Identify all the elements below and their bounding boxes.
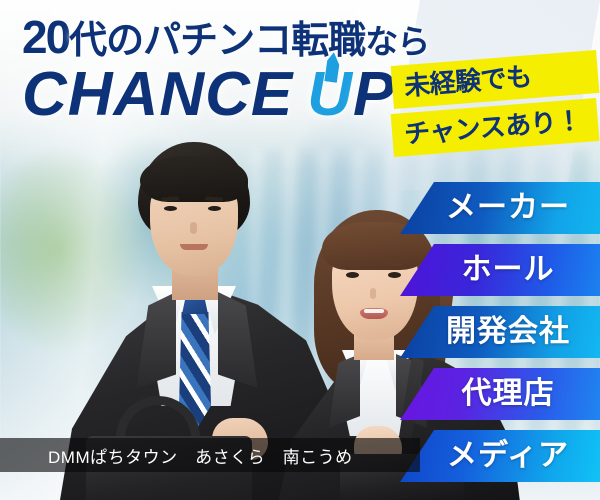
category-label-media: メディア [447, 441, 569, 471]
female-nose [370, 288, 376, 299]
headline-age-number: 20 [22, 11, 69, 63]
badge-chance-available: チャンスあり！ [391, 98, 600, 157]
category-list: メーカー ホール 開発会社 代理店 メディア [400, 182, 600, 482]
category-label-maker: メーカー [446, 193, 570, 223]
category-item-agency[interactable]: 代理店 [400, 368, 600, 420]
male-eye-right [208, 206, 221, 211]
logo-word-up: UP [307, 64, 395, 126]
category-label-agency: 代理店 [462, 379, 555, 409]
male-eye-left [164, 206, 177, 211]
category-item-development-company[interactable]: 開発会社 [400, 306, 600, 358]
highlight-badges: 未経験でも チャンスあり！ [392, 58, 598, 149]
female-eye-left [346, 272, 359, 278]
caption-band: DMMぱちタウン あさくら 南こうめ [0, 438, 420, 472]
male-hair-fringe [140, 156, 248, 202]
logo-chance-up: CHANCE UP [22, 64, 429, 126]
male-mouth [180, 244, 208, 250]
headline-tagline: 20代のパチンコ転職なら [22, 14, 429, 60]
headline-tagline-main: 代のパチンコ転職 [69, 20, 365, 62]
headline-tagline-suffix: なら [365, 23, 429, 60]
logo-letter-p: P [353, 60, 395, 129]
promo-banner[interactable]: 20代のパチンコ転職なら CHANCE UP 未経験でも チャンスあり！ メーカ… [0, 0, 600, 500]
female-teeth [364, 309, 384, 313]
category-item-media[interactable]: メディア [400, 430, 600, 482]
headline-block: 20代のパチンコ転職なら CHANCE UP [22, 14, 429, 126]
male-nose [190, 222, 197, 234]
caption-credits: DMMぱちタウン あさくら 南こうめ [0, 443, 353, 468]
category-label-hall: ホール [462, 255, 555, 285]
category-label-development-company: 開発会社 [446, 317, 570, 347]
category-item-hall[interactable]: ホール [400, 244, 600, 296]
logo-word-chance: CHANCE [22, 64, 293, 126]
category-item-maker[interactable]: メーカー [400, 182, 600, 234]
